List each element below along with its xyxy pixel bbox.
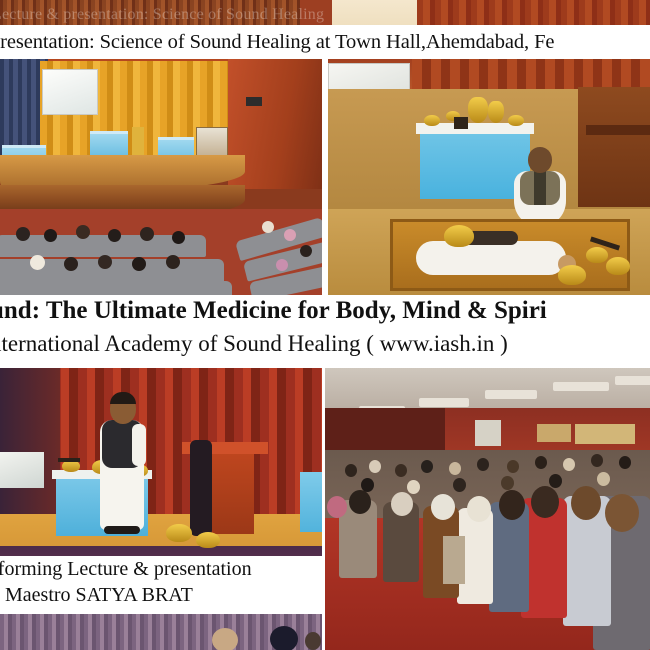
singing-bowl-on-body <box>444 225 474 247</box>
ceiling-beam <box>553 382 609 391</box>
audience-head <box>16 227 30 241</box>
projection-screen <box>42 69 98 115</box>
audience-head <box>369 460 381 473</box>
stage-podium <box>132 127 144 155</box>
curtain-shadow-left <box>0 368 60 518</box>
singing-bowl-floor <box>558 265 586 285</box>
audience-head <box>270 626 298 650</box>
stage-table-center <box>90 131 128 155</box>
seat-row <box>0 281 232 295</box>
wooden-furniture-right <box>578 87 650 207</box>
furniture-shelf <box>586 125 650 135</box>
ceiling-beam <box>419 398 469 407</box>
subheadline: nternational Academy of Sound Healing ( … <box>0 331 650 357</box>
projection-screen <box>0 452 44 488</box>
singing-bowl <box>488 101 504 123</box>
audience-head <box>98 255 112 269</box>
audience-head <box>563 458 575 471</box>
audience-head <box>549 474 562 488</box>
top-photo-strip: Lecture & presentation: Science of Sound… <box>0 0 650 26</box>
headline-band: und: The Ultimate Medicine for Body, Min… <box>0 295 650 368</box>
dark-stand <box>190 440 212 536</box>
audience-head <box>591 454 603 467</box>
audience-head <box>361 478 374 492</box>
panel-audience-back-row-strip <box>0 614 322 650</box>
headline: und: The Ultimate Medicine for Body, Min… <box>0 297 650 325</box>
audience-head <box>276 259 288 271</box>
speaker-kurta-sleeve <box>132 424 146 466</box>
audience-head <box>108 229 121 242</box>
singing-bowl-floor <box>166 524 192 542</box>
audience-head <box>64 257 78 271</box>
audience-head <box>44 229 57 242</box>
audience-head <box>76 225 90 239</box>
singing-bowl-floor <box>196 532 220 548</box>
audience-head <box>345 464 357 477</box>
singing-bowl <box>468 97 488 123</box>
reclining-person <box>416 241 566 275</box>
audience-head <box>421 460 433 473</box>
ceiling-beam <box>485 390 537 399</box>
audience-head <box>571 486 601 520</box>
audience-head <box>467 496 491 522</box>
singing-bowl-floor <box>586 247 608 263</box>
bowl-stand-dark <box>454 117 468 129</box>
audience-head <box>531 486 559 518</box>
panel-auditorium-stage-wide <box>0 59 322 295</box>
page-title: presentation: Science of Sound Healing a… <box>0 31 554 54</box>
audience-head <box>507 460 519 473</box>
doorway <box>475 420 501 446</box>
caption-line-1: sforming Lecture & presentation <box>0 558 323 581</box>
wall-grille <box>575 424 635 444</box>
audience-head <box>395 464 407 477</box>
audience-head <box>262 221 274 233</box>
speaker-box <box>246 97 262 106</box>
wall-grille <box>537 424 571 442</box>
audience-head <box>305 632 321 650</box>
singing-bowl <box>508 115 524 126</box>
audience-head <box>140 227 154 241</box>
audience-head <box>501 476 514 490</box>
audience-head <box>453 478 466 492</box>
poster-root: Lecture & presentation: Science of Sound… <box>0 0 650 650</box>
audience-head <box>132 257 146 271</box>
audience-head <box>212 628 238 650</box>
audience-head <box>597 472 610 486</box>
audience-head <box>166 255 180 269</box>
panel-audience-crowd <box>325 368 650 650</box>
mallet <box>58 458 80 462</box>
singing-bowl <box>424 115 440 126</box>
panel-sound-healing-demonstration <box>328 59 650 295</box>
audience-head <box>327 496 347 518</box>
caption-box: sforming Lecture & presentation y Maestr… <box>0 556 323 614</box>
chair <box>443 536 465 584</box>
audience-head <box>619 456 631 469</box>
practitioner-vest-center <box>534 171 546 205</box>
audience-head <box>431 494 455 520</box>
speaker-shoes <box>104 526 140 534</box>
practitioner-head <box>528 147 552 173</box>
ceiling-beam <box>615 376 650 385</box>
audience-head <box>477 458 489 471</box>
caption-line-2: y Maestro SATYA BRAT <box>0 584 323 607</box>
blue-table-right <box>300 472 322 532</box>
audience-head <box>535 456 547 469</box>
audience-head <box>172 231 185 244</box>
audience-head <box>349 490 371 514</box>
ghost-title-text: Lecture & presentation: Science of Sound… <box>0 6 552 26</box>
audience-head <box>300 245 312 257</box>
singing-bowl-floor <box>606 257 630 275</box>
title-band: presentation: Science of Sound Healing a… <box>0 25 650 59</box>
audience-head <box>605 494 639 532</box>
audience-head <box>30 255 45 270</box>
audience-head <box>407 480 420 494</box>
audience-head <box>284 229 296 241</box>
audience-head <box>449 462 461 475</box>
audience-head <box>499 490 525 520</box>
audience-head <box>391 492 413 516</box>
